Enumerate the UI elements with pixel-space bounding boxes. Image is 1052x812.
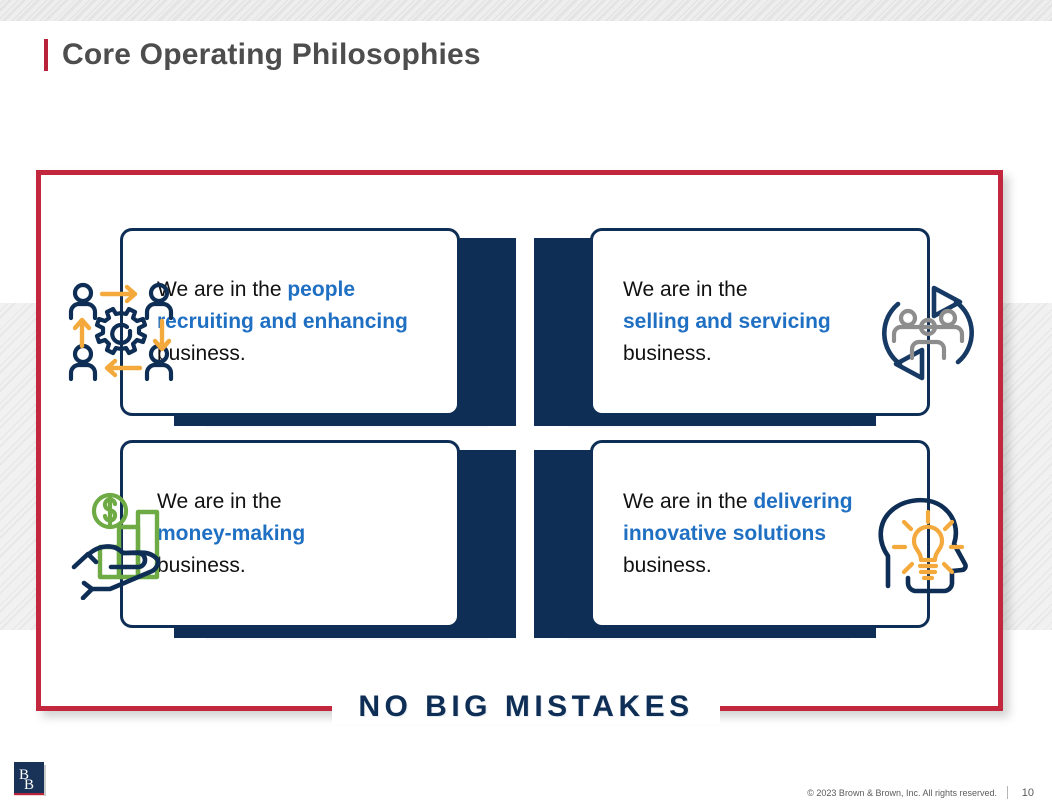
- philosophy-card-4[interactable]: We are in the delivering innovative solu…: [534, 440, 984, 640]
- card-text-segment: We are in the: [623, 490, 753, 513]
- card-text-highlight: money-making: [157, 522, 305, 545]
- svg-text:B: B: [24, 777, 34, 793]
- card-text-segment: business.: [623, 554, 712, 577]
- footer-page-number: 10: [1018, 787, 1034, 799]
- people-refresh-cycle-icon: [872, 278, 984, 388]
- page-title: Core Operating Philosophies: [62, 38, 481, 72]
- philosophy-card-3[interactable]: We are in the money-making business.: [66, 440, 516, 640]
- no-big-mistakes-banner: NO BIG MISTAKES: [0, 683, 1052, 731]
- hand-money-chart-icon: [66, 490, 178, 600]
- philosophy-card-1[interactable]: We are in the people recruiting and enha…: [66, 228, 516, 428]
- card-text-segment: We are in the: [623, 278, 748, 301]
- footer: © 2023 Brown & Brown, Inc. All rights re…: [807, 786, 1034, 799]
- top-stripe-band: [0, 0, 1052, 21]
- slide-header: Core Operating Philosophies: [44, 38, 481, 72]
- card-text-segment: business.: [623, 342, 712, 365]
- brown-and-brown-logo: B B: [14, 762, 46, 798]
- philosophy-card-2[interactable]: We are in the selling and servicing busi…: [534, 228, 984, 428]
- people-gear-cycle-icon: [66, 278, 178, 388]
- footer-divider: [1007, 786, 1008, 799]
- footer-copyright: © 2023 Brown & Brown, Inc. All rights re…: [807, 788, 997, 798]
- card-text-highlight: selling and servicing: [623, 310, 831, 333]
- philosophy-cards-grid: We are in the people recruiting and enha…: [66, 228, 976, 640]
- banner-text: NO BIG MISTAKES: [332, 690, 719, 724]
- head-lightbulb-idea-icon: [872, 490, 984, 600]
- title-accent-bar: [44, 39, 48, 71]
